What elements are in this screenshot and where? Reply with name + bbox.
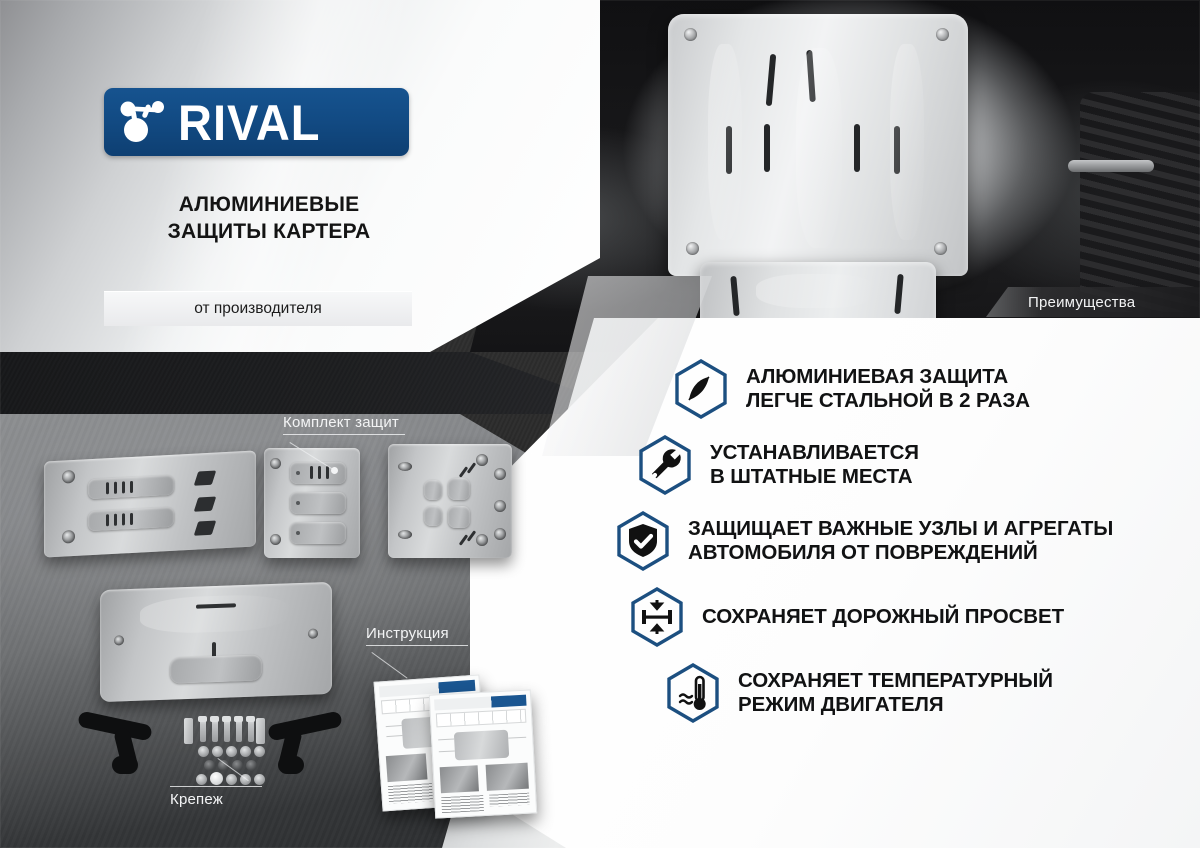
tyre-shape xyxy=(1080,92,1200,312)
thermometer-icon xyxy=(662,662,724,724)
benefit-text-2: УСТАНАВЛИВАЕТСЯВ ШТАТНЫЕ МЕСТА xyxy=(710,441,919,489)
headline-line-1: АЛЮМИНИЕВЫЕ xyxy=(104,192,434,219)
callout-kit-dot xyxy=(331,467,338,474)
callout-hardware-label: Крепеж xyxy=(170,791,262,808)
hero-ribbon: Преимущества xyxy=(986,287,1200,317)
callout-kit-label: Комплект защит xyxy=(283,414,407,431)
benefit-text-3: ЗАЩИЩАЕТ ВАЖНЫЕ УЗЛЫ И АГРЕГАТЫАВТОМОБИЛ… xyxy=(688,517,1113,565)
leaf-icon xyxy=(670,358,732,420)
callout-manual-label: Инструкция xyxy=(366,625,470,642)
benefit-text-4: СОХРАНЯЕТ ДОРОЖНЫЙ ПРОСВЕТ xyxy=(702,605,1064,629)
hero-skid-plate-front xyxy=(668,14,968,276)
benefit-item-2[interactable]: УСТАНАВЛИВАЕТСЯВ ШТАТНЫЕ МЕСТА xyxy=(634,434,1190,496)
molecule-icon xyxy=(114,96,176,148)
ground-clearance-icon xyxy=(626,586,688,648)
skid-plate-bottom-wide xyxy=(100,582,332,702)
skid-plate-right xyxy=(388,444,512,558)
benefits-list: АЛЮМИНИЕВАЯ ЗАЩИТАЛЕГЧЕ СТАЛЬНОЙ В 2 РАЗ… xyxy=(612,358,1190,738)
benefit-text-1: АЛЮМИНИЕВАЯ ЗАЩИТАЛЕГЧЕ СТАЛЬНОЙ В 2 РАЗ… xyxy=(746,365,1030,413)
subtitle-bar: от производителя xyxy=(104,291,412,326)
exhaust-pipe-left xyxy=(1068,160,1154,172)
skid-plate-large-left xyxy=(44,450,256,557)
callout-manual: Инструкция xyxy=(366,625,470,646)
brand-wordmark: RIVAL xyxy=(178,97,321,147)
benefit-item-5[interactable]: СОХРАНЯЕТ ТЕМПЕРАТУРНЫЙРЕЖИМ ДВИГАТЕЛЯ xyxy=(662,662,1190,724)
page-title: АЛЮМИНИЕВЫЕ ЗАЩИТЫ КАРТЕРА xyxy=(104,192,434,246)
wrench-icon xyxy=(634,434,696,496)
callout-kit: Комплект защит xyxy=(283,414,407,435)
headline-line-2: ЗАЩИТЫ КАРТЕРА xyxy=(104,219,434,246)
poster-root: Преимущества RIVAL АЛЮМИНИЕВЫЕ ЗАЩИТЫ КА… xyxy=(0,0,1200,848)
callout-hardware: Крепеж xyxy=(170,786,262,808)
benefit-text-5: СОХРАНЯЕТ ТЕМПЕРАТУРНЫЙРЕЖИМ ДВИГАТЕЛЯ xyxy=(738,669,1053,717)
skid-plate-middle xyxy=(264,448,360,558)
shield-check-icon xyxy=(612,510,674,572)
benefit-item-1[interactable]: АЛЮМИНИЕВАЯ ЗАЩИТАЛЕГЧЕ СТАЛЬНОЙ В 2 РАЗ… xyxy=(670,358,1190,420)
brand-logo[interactable]: RIVAL xyxy=(104,88,409,156)
benefit-item-3[interactable]: ЗАЩИЩАЕТ ВАЖНЫЕ УЗЛЫ И АГРЕГАТЫАВТОМОБИЛ… xyxy=(612,510,1190,572)
subtitle-text: от производителя xyxy=(194,300,322,318)
instruction-sheet-front xyxy=(429,689,537,818)
hero-ribbon-label: Преимущества xyxy=(1028,294,1135,311)
benefit-item-4[interactable]: СОХРАНЯЕТ ДОРОЖНЫЙ ПРОСВЕТ xyxy=(626,586,1190,648)
